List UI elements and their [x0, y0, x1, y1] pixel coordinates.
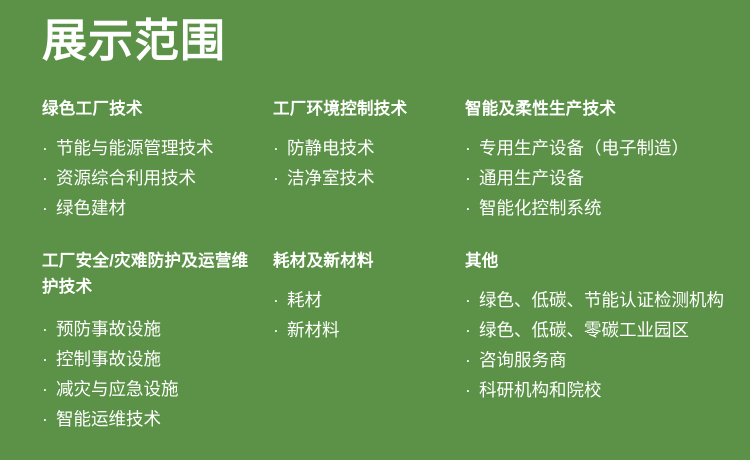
list-item: ·通用生产设备 [465, 163, 750, 193]
list-item: ·绿色、低碳、节能认证检测机构 [465, 285, 750, 315]
list-item-label: 智能运维技术 [56, 409, 161, 429]
category-block-factory-environment-control-tech: 工厂环境控制技术 ·防静电技术 ·洁净室技术 [273, 96, 465, 193]
category-heading: 工厂环境控制技术 [273, 96, 465, 122]
exhibit-scope-poster: 展示范围 绿色工厂技术 ·节能与能源管理技术 ·资源综合利用技术 ·绿色建材 工… [0, 0, 750, 460]
bullet-icon: · [42, 193, 48, 223]
list-item-label: 预防事故设施 [56, 319, 161, 339]
list-item: ·绿色建材 [42, 193, 273, 223]
category-item-list: ·防静电技术 ·洁净室技术 [273, 133, 465, 193]
bullet-icon: · [465, 193, 471, 223]
bullet-icon: · [273, 285, 279, 315]
bullet-icon: · [465, 375, 471, 405]
category-block-green-factory-tech: 绿色工厂技术 ·节能与能源管理技术 ·资源综合利用技术 ·绿色建材 [0, 96, 273, 223]
bullet-icon: · [465, 163, 471, 193]
category-block-factory-safety-disaster-ops-tech: 工厂安全/灾难防护及运营维护技术 ·预防事故设施 ·控制事故设施 ·减灾与应急设… [0, 248, 273, 434]
category-item-list: ·耗材 ·新材料 [273, 285, 465, 345]
list-item-label: 通用生产设备 [479, 168, 584, 188]
list-item: ·洁净室技术 [273, 163, 465, 193]
bullet-icon: · [273, 133, 279, 163]
list-item-label: 绿色、低碳、零碳工业园区 [479, 320, 689, 340]
list-item-label: 减灾与应急设施 [56, 379, 179, 399]
list-item: ·控制事故设施 [42, 344, 273, 374]
bullet-icon: · [42, 374, 48, 404]
bullet-icon: · [42, 404, 48, 434]
category-block-others: 其他 ·绿色、低碳、节能认证检测机构 ·绿色、低碳、零碳工业园区 ·咨询服务商 … [465, 248, 750, 405]
list-item-label: 新材料 [287, 320, 340, 340]
bullet-icon: · [42, 314, 48, 344]
category-grid: 绿色工厂技术 ·节能与能源管理技术 ·资源综合利用技术 ·绿色建材 工厂环境控制… [0, 96, 750, 418]
list-item: ·节能与能源管理技术 [42, 133, 273, 163]
list-item-label: 绿色、低碳、节能认证检测机构 [479, 290, 724, 310]
bullet-icon: · [42, 133, 48, 163]
category-item-list: ·专用生产设备（电子制造） ·通用生产设备 ·智能化控制系统 [465, 133, 750, 223]
list-item-label: 咨询服务商 [479, 350, 567, 370]
bullet-icon: · [465, 345, 471, 375]
list-item: ·智能化控制系统 [465, 193, 750, 223]
list-item-label: 节能与能源管理技术 [56, 138, 214, 158]
category-block-smart-flexible-production-tech: 智能及柔性生产技术 ·专用生产设备（电子制造） ·通用生产设备 ·智能化控制系统 [465, 96, 750, 223]
list-item-label: 耗材 [287, 290, 322, 310]
category-heading: 智能及柔性生产技术 [465, 96, 750, 122]
category-row-bottom: 工厂安全/灾难防护及运营维护技术 ·预防事故设施 ·控制事故设施 ·减灾与应急设… [0, 248, 750, 418]
bullet-icon: · [273, 315, 279, 345]
list-item-label: 专用生产设备（电子制造） [479, 138, 689, 158]
list-item-label: 科研机构和院校 [479, 380, 602, 400]
bullet-icon: · [42, 163, 48, 193]
list-item-label: 洁净室技术 [287, 168, 375, 188]
list-item-label: 资源综合利用技术 [56, 168, 196, 188]
bullet-icon: · [42, 344, 48, 374]
category-heading: 耗材及新材料 [273, 248, 465, 274]
list-item-label: 控制事故设施 [56, 349, 161, 369]
category-item-list: ·节能与能源管理技术 ·资源综合利用技术 ·绿色建材 [42, 133, 273, 223]
list-item: ·咨询服务商 [465, 345, 750, 375]
category-heading: 绿色工厂技术 [42, 96, 273, 122]
bullet-icon: · [273, 163, 279, 193]
category-heading: 工厂安全/灾难防护及运营维护技术 [42, 248, 257, 300]
list-item: ·预防事故设施 [42, 314, 273, 344]
list-item: ·减灾与应急设施 [42, 374, 273, 404]
list-item: ·新材料 [273, 315, 465, 345]
list-item-label: 防静电技术 [287, 138, 375, 158]
category-heading: 其他 [465, 248, 750, 274]
category-item-list: ·预防事故设施 ·控制事故设施 ·减灾与应急设施 ·智能运维技术 [42, 314, 273, 434]
category-block-consumables-new-materials: 耗材及新材料 ·耗材 ·新材料 [273, 248, 465, 345]
list-item: ·资源综合利用技术 [42, 163, 273, 193]
list-item: ·专用生产设备（电子制造） [465, 133, 750, 163]
bullet-icon: · [465, 285, 471, 315]
list-item: ·防静电技术 [273, 133, 465, 163]
list-item-label: 绿色建材 [56, 198, 126, 218]
bullet-icon: · [465, 315, 471, 345]
list-item: ·耗材 [273, 285, 465, 315]
category-row-top: 绿色工厂技术 ·节能与能源管理技术 ·资源综合利用技术 ·绿色建材 工厂环境控制… [0, 96, 750, 248]
list-item: ·科研机构和院校 [465, 375, 750, 405]
list-item-label: 智能化控制系统 [479, 198, 602, 218]
list-item: ·智能运维技术 [42, 404, 273, 434]
page-title: 展示范围 [42, 12, 226, 70]
list-item: ·绿色、低碳、零碳工业园区 [465, 315, 750, 345]
category-item-list: ·绿色、低碳、节能认证检测机构 ·绿色、低碳、零碳工业园区 ·咨询服务商 ·科研… [465, 285, 750, 405]
bullet-icon: · [465, 133, 471, 163]
